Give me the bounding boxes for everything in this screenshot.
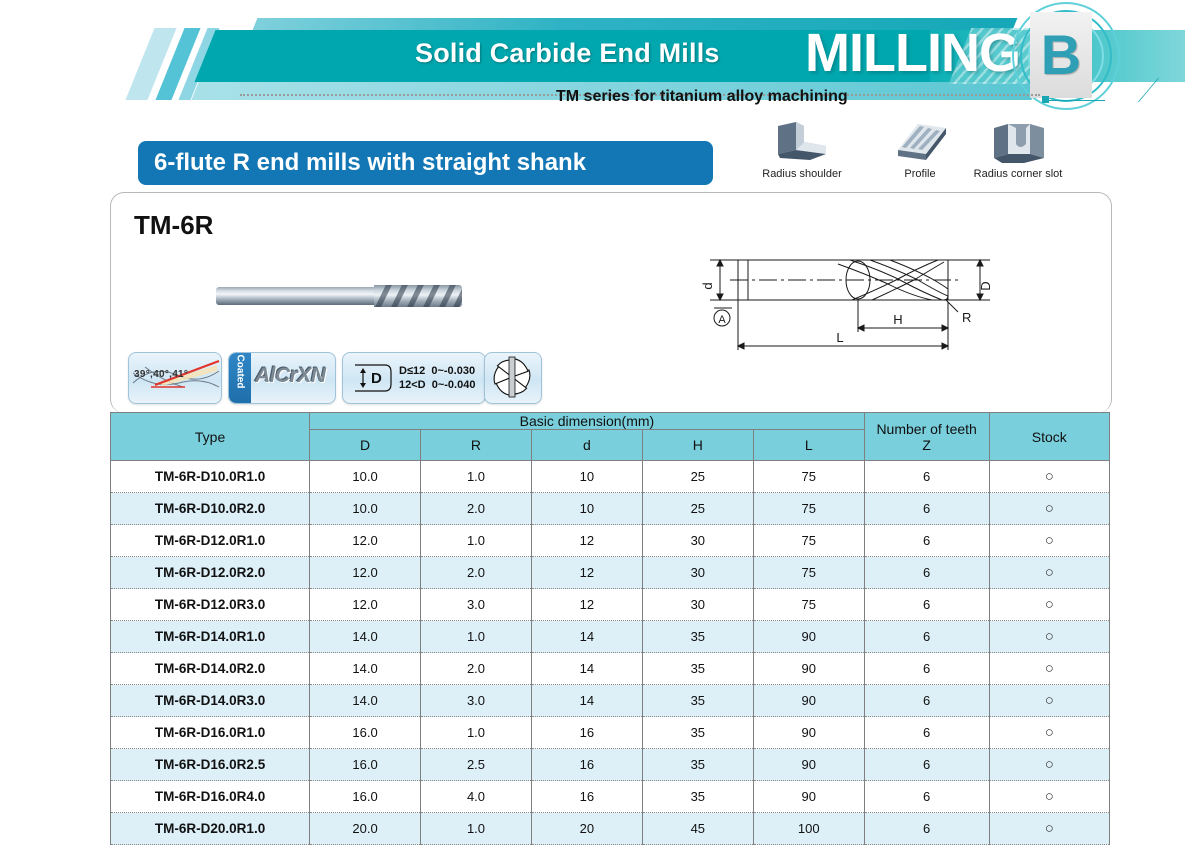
cell-D: 10.0 — [310, 493, 421, 525]
cell-R: 1.0 — [421, 525, 532, 557]
drawing-label-datum: A — [718, 314, 726, 326]
cell-type: TM-6R-D20.0R1.0 — [111, 813, 310, 845]
category-title: MILLING — [805, 22, 1020, 84]
drawing-label-H: H — [893, 312, 902, 327]
profile-icon — [888, 120, 952, 166]
cell-H: 35 — [642, 621, 753, 653]
cell-L: 75 — [753, 557, 864, 589]
cell-D: 12.0 — [310, 557, 421, 589]
page-header: Solid Carbide End Mills MILLING B TM ser… — [0, 0, 1185, 112]
cell-Z: 6 — [864, 813, 989, 845]
cell-type: TM-6R-D10.0R2.0 — [111, 493, 310, 525]
table-header-row-1: Type Basic dimension(mm) Number of teeth… — [111, 413, 1110, 430]
cell-stock: ○ — [989, 589, 1109, 621]
tolerance-values: D≤12 0~-0.030 12<D 0~-0.040 — [399, 364, 475, 392]
model-name: TM-6R — [134, 210, 213, 241]
cell-type: TM-6R-D14.0R1.0 — [111, 621, 310, 653]
cell-R: 3.0 — [421, 685, 532, 717]
cell-R: 1.0 — [421, 717, 532, 749]
cell-H: 25 — [642, 493, 753, 525]
coated-label: Coated — [235, 352, 246, 397]
cell-d: 16 — [531, 749, 642, 781]
cell-d: 14 — [531, 653, 642, 685]
table-row[interactable]: TM-6R-D16.0R1.016.01.01635906○ — [111, 717, 1110, 749]
cell-type: TM-6R-D14.0R2.0 — [111, 653, 310, 685]
cell-Z: 6 — [864, 653, 989, 685]
table-row[interactable]: TM-6R-D14.0R2.014.02.01435906○ — [111, 653, 1110, 685]
specification-table: Type Basic dimension(mm) Number of teeth… — [110, 412, 1110, 845]
cell-type: TM-6R-D16.0R1.0 — [111, 717, 310, 749]
photo-flutes — [374, 285, 462, 307]
section-tab-badge[interactable]: B — [1030, 12, 1092, 98]
table-row[interactable]: TM-6R-D14.0R1.014.01.01435906○ — [111, 621, 1110, 653]
cell-D: 12.0 — [310, 589, 421, 621]
cell-R: 2.0 — [421, 493, 532, 525]
cell-L: 90 — [753, 621, 864, 653]
cell-stock: ○ — [989, 461, 1109, 493]
cell-Z: 6 — [864, 781, 989, 813]
cell-L: 75 — [753, 461, 864, 493]
header-col-R: R — [421, 430, 532, 461]
cell-Z: 6 — [864, 717, 989, 749]
radius-shoulder-icon — [770, 120, 834, 166]
radius-corner-slot-icon — [986, 120, 1050, 166]
cell-stock: ○ — [989, 813, 1109, 845]
cell-stock: ○ — [989, 557, 1109, 589]
cell-Z: 6 — [864, 589, 989, 621]
helix-angle-text: 39°,40°,41° — [134, 369, 188, 380]
table-row[interactable]: TM-6R-D16.0R4.016.04.01635906○ — [111, 781, 1110, 813]
cell-stock: ○ — [989, 781, 1109, 813]
cell-type: TM-6R-D12.0R3.0 — [111, 589, 310, 621]
cell-Z: 6 — [864, 621, 989, 653]
table-row[interactable]: TM-6R-D12.0R2.012.02.01230756○ — [111, 557, 1110, 589]
cell-R: 1.0 — [421, 461, 532, 493]
cell-type: TM-6R-D12.0R1.0 — [111, 525, 310, 557]
cell-L: 75 — [753, 589, 864, 621]
cell-L: 90 — [753, 653, 864, 685]
cell-L: 90 — [753, 717, 864, 749]
product-photo — [216, 283, 461, 309]
coated-strip: Coated — [229, 353, 251, 403]
cell-D: 16.0 — [310, 781, 421, 813]
table-row[interactable]: TM-6R-D12.0R1.012.01.01230756○ — [111, 525, 1110, 557]
cell-Z: 6 — [864, 461, 989, 493]
cell-L: 90 — [753, 685, 864, 717]
cell-L: 75 — [753, 525, 864, 557]
cell-Z: 6 — [864, 525, 989, 557]
cell-stock: ○ — [989, 717, 1109, 749]
technical-drawing: d D R H L A — [690, 240, 1030, 365]
table-row[interactable]: TM-6R-D12.0R3.012.03.01230756○ — [111, 589, 1110, 621]
header-teeth-label: Number of teeth — [865, 421, 989, 437]
cell-type: TM-6R-D16.0R4.0 — [111, 781, 310, 813]
header-basic-dimension: Basic dimension(mm) — [310, 413, 865, 430]
cell-H: 35 — [642, 685, 753, 717]
cell-type: TM-6R-D12.0R2.0 — [111, 557, 310, 589]
application-radius-shoulder: Radius shoulder — [742, 120, 862, 166]
table-row[interactable]: TM-6R-D10.0R1.010.01.01025756○ — [111, 461, 1110, 493]
cell-d: 12 — [531, 589, 642, 621]
cell-Z: 6 — [864, 493, 989, 525]
diameter-tolerance-icon: D — [351, 362, 393, 394]
cell-D: 14.0 — [310, 621, 421, 653]
cell-d: 16 — [531, 717, 642, 749]
cell-d: 12 — [531, 525, 642, 557]
cell-d: 14 — [531, 621, 642, 653]
cell-H: 30 — [642, 589, 753, 621]
drawing-label-d: d — [700, 282, 715, 289]
header-subtitle: TM series for titanium alloy machining — [556, 88, 848, 106]
application-radius-corner-slot: Radius corner slot — [958, 120, 1078, 166]
header-teeth: Number of teeth Z — [864, 413, 989, 461]
cell-L: 90 — [753, 749, 864, 781]
drawing-label-R: R — [962, 310, 971, 325]
cell-H: 25 — [642, 461, 753, 493]
table-row[interactable]: TM-6R-D16.0R2.516.02.51635906○ — [111, 749, 1110, 781]
cell-H: 35 — [642, 781, 753, 813]
cell-stock: ○ — [989, 749, 1109, 781]
cell-d: 10 — [531, 493, 642, 525]
section-title-banner: 6-flute R end mills with straight shank — [138, 141, 713, 185]
drawing-label-L: L — [836, 330, 843, 345]
cell-D: 14.0 — [310, 685, 421, 717]
cell-R: 4.0 — [421, 781, 532, 813]
badge-tolerance: D D≤12 0~-0.030 12<D 0~-0.040 — [342, 352, 486, 404]
cell-Z: 6 — [864, 557, 989, 589]
table-head: Type Basic dimension(mm) Number of teeth… — [111, 413, 1110, 461]
drawing-label-D: D — [978, 281, 993, 290]
cell-R: 1.0 — [421, 813, 532, 845]
application-label: Radius shoulder — [742, 168, 862, 180]
cell-H: 35 — [642, 653, 753, 685]
cell-stock: ○ — [989, 653, 1109, 685]
cell-L: 90 — [753, 781, 864, 813]
cell-R: 1.0 — [421, 621, 532, 653]
six-flute-cross-section-icon — [485, 353, 539, 401]
cell-H: 30 — [642, 557, 753, 589]
badge-cross-section — [484, 352, 542, 404]
cell-d: 16 — [531, 781, 642, 813]
photo-shank — [216, 287, 376, 305]
cell-H: 35 — [642, 717, 753, 749]
table-body: TM-6R-D10.0R1.010.01.01025756○TM-6R-D10.… — [111, 461, 1110, 845]
cell-L: 100 — [753, 813, 864, 845]
header-col-D: D — [310, 430, 421, 461]
cell-d: 10 — [531, 461, 642, 493]
cell-R: 3.0 — [421, 589, 532, 621]
cell-R: 2.0 — [421, 653, 532, 685]
cell-type: TM-6R-D10.0R1.0 — [111, 461, 310, 493]
cell-D: 10.0 — [310, 461, 421, 493]
badge-coating: Coated AlCrXN — [228, 352, 336, 404]
table-row[interactable]: TM-6R-D10.0R2.010.02.01025756○ — [111, 493, 1110, 525]
coating-name: AlCrXN — [255, 364, 326, 388]
cell-type: TM-6R-D16.0R2.5 — [111, 749, 310, 781]
header-col-d: d — [531, 430, 642, 461]
tolerance-symbol: D — [371, 370, 382, 387]
cell-L: 75 — [753, 493, 864, 525]
section-title-text: 6-flute R end mills with straight shank — [154, 149, 586, 177]
cell-H: 30 — [642, 525, 753, 557]
header-teeth-symbol: Z — [865, 437, 989, 453]
tab-letter: B — [1041, 27, 1081, 83]
table-row[interactable]: TM-6R-D20.0R1.020.01.020451006○ — [111, 813, 1110, 845]
cell-R: 2.5 — [421, 749, 532, 781]
header-col-L: L — [753, 430, 864, 461]
cell-stock: ○ — [989, 621, 1109, 653]
badge-helix-angle: 39°,40°,41° — [128, 352, 222, 404]
cell-stock: ○ — [989, 493, 1109, 525]
cell-H: 35 — [642, 749, 753, 781]
cell-D: 14.0 — [310, 653, 421, 685]
cell-D: 16.0 — [310, 717, 421, 749]
cell-Z: 6 — [864, 749, 989, 781]
application-label: Radius corner slot — [958, 168, 1078, 180]
cell-type: TM-6R-D14.0R3.0 — [111, 685, 310, 717]
cell-d: 12 — [531, 557, 642, 589]
cell-d: 20 — [531, 813, 642, 845]
cell-D: 16.0 — [310, 749, 421, 781]
table-row[interactable]: TM-6R-D14.0R3.014.03.01435906○ — [111, 685, 1110, 717]
application-icons: Radius shoulder Profile Radius corner sl… — [742, 120, 1092, 192]
cell-D: 20.0 — [310, 813, 421, 845]
cell-R: 2.0 — [421, 557, 532, 589]
cell-stock: ○ — [989, 685, 1109, 717]
cell-H: 45 — [642, 813, 753, 845]
header-type: Type — [111, 413, 310, 461]
cell-Z: 6 — [864, 685, 989, 717]
cell-stock: ○ — [989, 525, 1109, 557]
header-stock: Stock — [989, 413, 1109, 461]
cell-d: 14 — [531, 685, 642, 717]
header-col-H: H — [642, 430, 753, 461]
cell-D: 12.0 — [310, 525, 421, 557]
